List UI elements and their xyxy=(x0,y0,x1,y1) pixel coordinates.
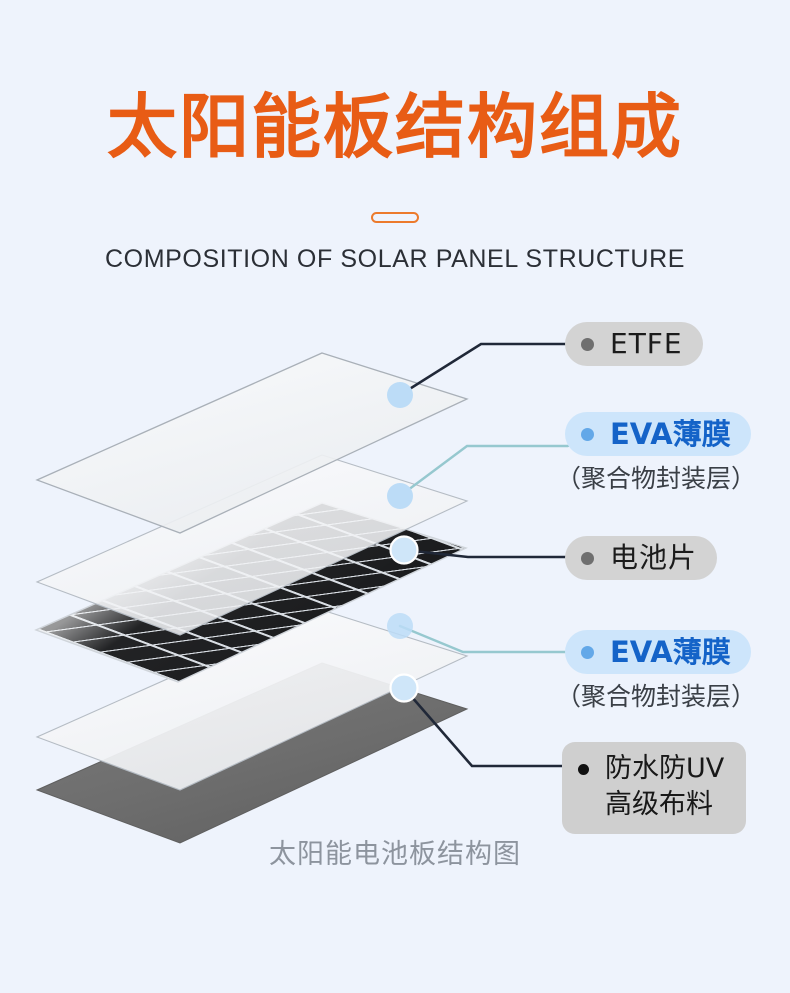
bullet-dot-icon xyxy=(581,646,594,659)
diagram-caption: 太阳能电池板结构图 xyxy=(0,838,790,872)
solar-panel-exploded-diagram xyxy=(0,300,560,800)
label-eva-top[interactable]: EVA薄膜 xyxy=(565,412,751,456)
marker-dot-backsheet xyxy=(391,675,418,702)
label-eva-bottom-note: （聚合物封装层） xyxy=(556,682,756,712)
label-eva-top-text: EVA薄膜 xyxy=(610,419,731,450)
label-etfe[interactable]: ETFE xyxy=(565,322,703,366)
marker-dot-eva-top xyxy=(387,483,413,509)
poster-root: 太阳能板结构组成 COMPOSITION OF SOLAR PANEL STRU… xyxy=(0,0,790,993)
bullet-dot-icon xyxy=(578,764,589,775)
marker-dot-cell xyxy=(391,537,418,564)
label-eva-bottom[interactable]: EVA薄膜 xyxy=(565,630,751,674)
label-etfe-text: ETFE xyxy=(610,329,683,359)
title-divider xyxy=(371,212,419,223)
bullet-dot-icon xyxy=(581,552,594,565)
label-eva-top-note: （聚合物封装层） xyxy=(556,464,756,494)
bullet-dot-icon xyxy=(581,338,594,351)
marker-dot-eva-bottom xyxy=(387,613,413,639)
label-backsheet-text1: 防水防UV xyxy=(605,751,724,787)
label-cell[interactable]: 电池片 xyxy=(565,536,717,580)
page-subtitle: COMPOSITION OF SOLAR PANEL STRUCTURE xyxy=(0,243,790,276)
label-cell-text: 电池片 xyxy=(610,543,697,573)
label-backsheet-line2: 高级布料 xyxy=(578,787,728,823)
marker-dot-etfe xyxy=(387,382,413,408)
label-backsheet-line1: 防水防UV xyxy=(578,751,728,787)
label-backsheet[interactable]: 防水防UV 高级布料 xyxy=(562,742,746,834)
page-title: 太阳能板结构组成 xyxy=(0,84,790,170)
label-backsheet-text2: 高级布料 xyxy=(605,787,713,823)
label-eva-bottom-text: EVA薄膜 xyxy=(610,637,731,668)
bullet-dot-icon xyxy=(581,428,594,441)
